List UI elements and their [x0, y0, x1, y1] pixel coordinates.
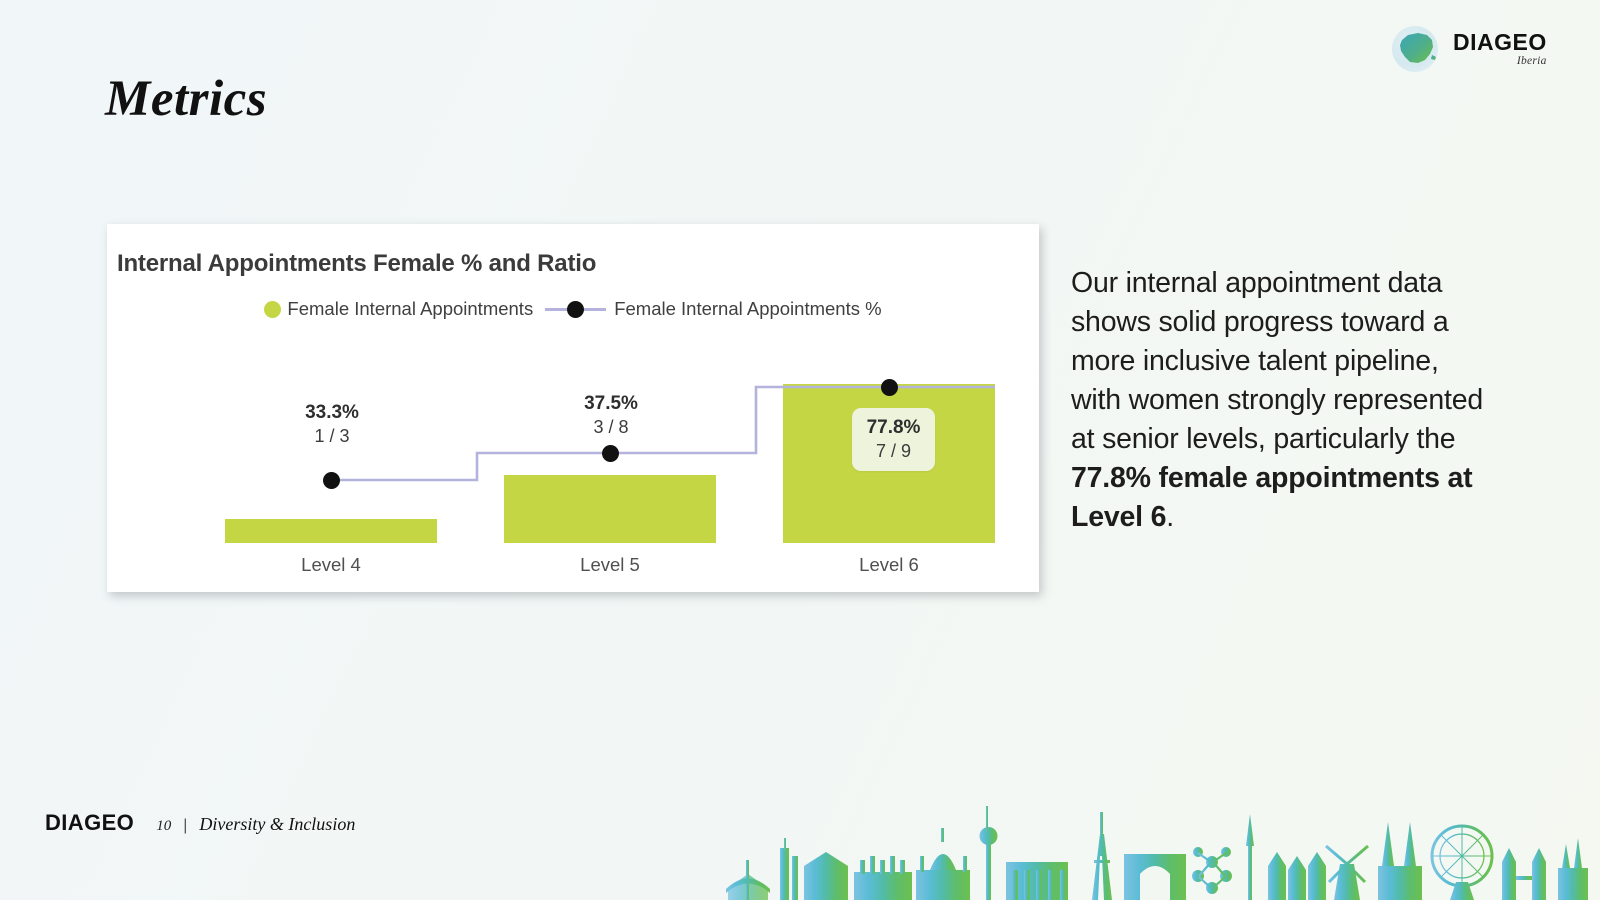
- legend-label-bars: Female Internal Appointments: [287, 298, 533, 320]
- marker-level-5[interactable]: [602, 445, 619, 462]
- brand-region: Iberia: [1453, 56, 1547, 68]
- data-label-level-4: 33.3% 1 / 3: [272, 400, 392, 449]
- x-axis-label-level-5: Level 5: [550, 554, 670, 576]
- data-label-level-5: 37.5% 3 / 8: [551, 391, 671, 440]
- iberia-map-icon: [1388, 24, 1444, 74]
- legend-label-percent: Female Internal Appointments %: [614, 298, 881, 320]
- insight-paragraph: Our internal appointment data shows soli…: [1071, 264, 1491, 537]
- page-number: 10: [156, 818, 171, 835]
- chart-title: Internal Appointments Female % and Ratio: [117, 250, 596, 278]
- footer-separator: |: [183, 817, 187, 835]
- insight-highlight: 77.8% female appointments at Level 6: [1071, 462, 1472, 533]
- footer: DIAGEO 10 | Diversity & Inclusion: [45, 810, 355, 836]
- european-skyline-icon: [720, 790, 1600, 900]
- legend-line-dot-icon: [545, 301, 606, 318]
- data-label-level-6: 77.8% 7 / 9: [852, 408, 935, 471]
- marker-level-4[interactable]: [323, 472, 340, 489]
- page-title: Metrics: [105, 70, 267, 128]
- iberia-map-shape: [1388, 24, 1444, 74]
- chart-legend: Female Internal Appointments Female Inte…: [107, 298, 1039, 320]
- footer-caption: Diversity & Inclusion: [199, 814, 355, 835]
- legend-item-bars[interactable]: Female Internal Appointments: [264, 298, 533, 320]
- footer-brand: DIAGEO: [45, 810, 134, 836]
- chart-plot-area: 33.3% 1 / 3 37.5% 3 / 8 77.8% 7 / 9 Leve…: [107, 344, 1039, 592]
- x-axis-label-level-6: Level 6: [829, 554, 949, 576]
- data-label-ratio: 3 / 8: [551, 416, 671, 440]
- data-label-percent: 33.3%: [272, 400, 392, 425]
- legend-line-right: [584, 308, 606, 311]
- x-axis-label-level-4: Level 4: [271, 554, 391, 576]
- chart-card: Internal Appointments Female % and Ratio…: [107, 224, 1039, 592]
- legend-dot-icon: [567, 301, 584, 318]
- legend-circle-icon: [264, 301, 281, 318]
- data-label-ratio: 1 / 3: [272, 425, 392, 449]
- insight-tail: .: [1166, 501, 1174, 533]
- brand-logo: DIAGEO Iberia: [1388, 24, 1547, 74]
- data-label-percent: 77.8%: [866, 415, 921, 440]
- brand-name: DIAGEO: [1453, 31, 1547, 54]
- data-label-ratio: 7 / 9: [866, 440, 921, 464]
- data-label-percent: 37.5%: [551, 391, 671, 416]
- insight-lead: Our internal appointment data shows soli…: [1071, 267, 1483, 455]
- legend-item-percent[interactable]: Female Internal Appointments %: [614, 298, 881, 320]
- brand-wordmark: DIAGEO Iberia: [1453, 31, 1547, 68]
- marker-level-6[interactable]: [881, 379, 898, 396]
- legend-line-left: [545, 308, 567, 311]
